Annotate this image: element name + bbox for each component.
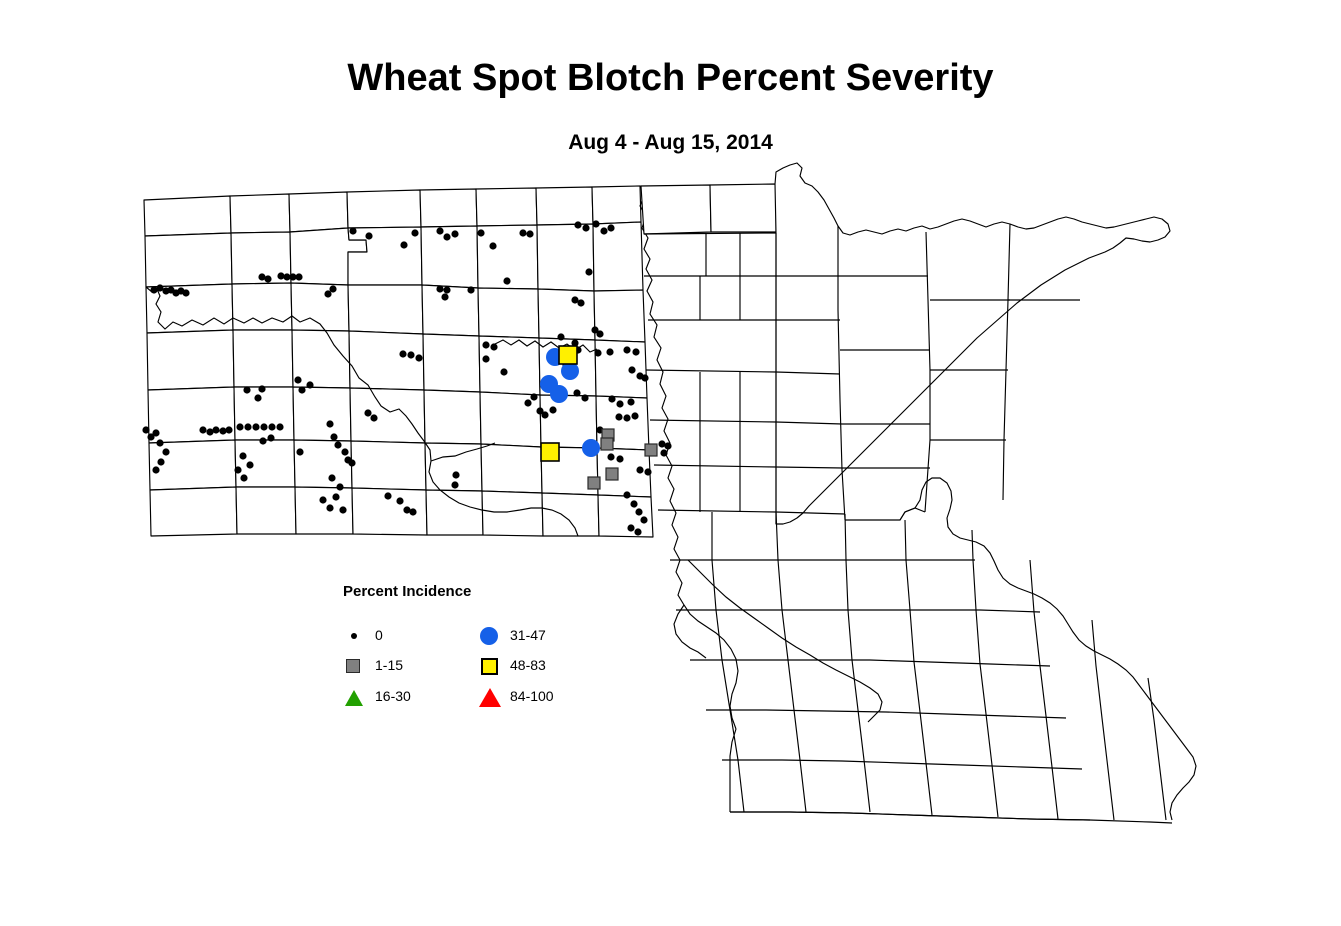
marker-zero: [630, 500, 637, 507]
marker-zero: [452, 471, 459, 478]
marker-zero: [490, 343, 497, 350]
marker-zero: [212, 426, 219, 433]
marker-zero: [574, 221, 581, 228]
marker-zero: [482, 341, 489, 348]
minnesota-counties: [640, 163, 1196, 823]
marker-zero: [330, 433, 337, 440]
legend-key-gray-square: [343, 653, 369, 679]
marker-zero: [294, 376, 301, 383]
marker-zero: [156, 439, 163, 446]
map-canvas: [0, 0, 1341, 926]
marker-zero: [259, 437, 266, 444]
marker-zero: [162, 448, 169, 455]
marker-zero: [142, 426, 149, 433]
legend-label-31-47: 31-47: [510, 627, 546, 643]
marker-zero: [549, 406, 556, 413]
legend-key-yellow-square: [478, 653, 504, 679]
marker-zero: [530, 393, 537, 400]
marker-zero: [319, 496, 326, 503]
marker-zero: [152, 429, 159, 436]
marker-zero: [623, 346, 630, 353]
marker-zero: [443, 233, 450, 240]
marker-zero: [616, 400, 623, 407]
marker-zero: [594, 349, 601, 356]
marker-zero: [407, 351, 414, 358]
marker-zero: [264, 275, 271, 282]
marker-zero: [582, 224, 589, 231]
marker-1-15: [601, 438, 613, 450]
marker-zero: [634, 528, 641, 535]
marker-zero: [592, 220, 599, 227]
marker-zero: [334, 441, 341, 448]
marker-zero: [627, 398, 634, 405]
marker-zero: [607, 224, 614, 231]
marker-zero: [277, 272, 284, 279]
map-figure: Wheat Spot Blotch Percent Severity Aug 4…: [0, 0, 1341, 926]
marker-zero: [409, 508, 416, 515]
marker-zero: [500, 368, 507, 375]
map-svg: [0, 0, 1341, 926]
marker-zero: [152, 466, 159, 473]
marker-zero: [503, 277, 510, 284]
marker-zero: [199, 426, 206, 433]
legend-label-0: 0: [375, 627, 383, 643]
marker-zero: [157, 458, 164, 465]
marker-zero: [635, 508, 642, 515]
marker-zero: [443, 286, 450, 293]
marker-zero: [348, 459, 355, 466]
marker-zero: [606, 348, 613, 355]
legend-key-dot: [343, 623, 369, 649]
marker-zero: [607, 453, 614, 460]
marker-zero: [236, 423, 243, 430]
marker-zero: [524, 399, 531, 406]
marker-zero: [482, 355, 489, 362]
marker-zero: [370, 414, 377, 421]
marker-zero: [349, 227, 356, 234]
marker-zero: [182, 289, 189, 296]
marker-zero: [341, 448, 348, 455]
legend-key-green-triangle: [343, 684, 369, 710]
marker-1-15: [588, 477, 600, 489]
legend-label-48-83: 48-83: [510, 657, 546, 673]
marker-zero: [267, 434, 274, 441]
marker-zero: [276, 423, 283, 430]
marker-zero: [581, 394, 588, 401]
marker-zero: [577, 299, 584, 306]
marker-48-83: [559, 346, 577, 364]
marker-zero: [225, 426, 232, 433]
marker-1-15: [606, 468, 618, 480]
marker-zero: [623, 491, 630, 498]
marker-zero: [365, 232, 372, 239]
marker-zero: [573, 389, 580, 396]
marker-zero: [600, 227, 607, 234]
marker-zero: [332, 493, 339, 500]
marker-zero: [489, 242, 496, 249]
marker-zero: [295, 273, 302, 280]
legend-label-84-100: 84-100: [510, 688, 554, 704]
marker-zero: [623, 414, 630, 421]
marker-zero: [585, 268, 592, 275]
marker-zero: [219, 427, 226, 434]
marker-31-47: [582, 439, 600, 457]
marker-zero: [557, 333, 564, 340]
marker-zero: [306, 381, 313, 388]
marker-48-83: [541, 443, 559, 461]
marker-zero: [640, 516, 647, 523]
marker-zero: [541, 411, 548, 418]
marker-1-15: [645, 444, 657, 456]
legend-key-red-triangle: [478, 684, 504, 710]
marker-zero: [615, 413, 622, 420]
legend-label-16-30: 16-30: [375, 688, 411, 704]
marker-zero: [240, 474, 247, 481]
marker-zero: [641, 374, 648, 381]
marker-zero: [364, 409, 371, 416]
marker-zero: [252, 423, 259, 430]
marker-zero: [244, 423, 251, 430]
marker-zero: [644, 468, 651, 475]
marker-zero: [258, 385, 265, 392]
legend-label-1-15: 1-15: [375, 657, 403, 673]
marker-zero: [326, 420, 333, 427]
marker-zero: [400, 241, 407, 248]
marker-zero: [243, 386, 250, 393]
marker-zero: [411, 229, 418, 236]
marker-zero: [477, 229, 484, 236]
marker-zero: [631, 412, 638, 419]
marker-zero: [519, 229, 526, 236]
legend-key-blue-circle: [478, 623, 504, 649]
marker-zero: [664, 442, 671, 449]
marker-zero: [254, 394, 261, 401]
marker-zero: [627, 524, 634, 531]
marker-zero: [526, 230, 533, 237]
marker-zero: [239, 452, 246, 459]
marker-zero: [415, 354, 422, 361]
marker-zero: [246, 461, 253, 468]
marker-zero: [632, 348, 639, 355]
marker-zero: [399, 350, 406, 357]
marker-zero: [451, 230, 458, 237]
marker-zero: [339, 506, 346, 513]
marker-zero: [268, 423, 275, 430]
marker-zero: [384, 492, 391, 499]
marker-zero: [326, 504, 333, 511]
marker-zero: [298, 386, 305, 393]
marker-zero: [616, 455, 623, 462]
marker-zero: [329, 285, 336, 292]
marker-zero: [636, 466, 643, 473]
marker-zero: [628, 366, 635, 373]
marker-zero: [436, 227, 443, 234]
marker-zero: [234, 466, 241, 473]
marker-zero: [336, 483, 343, 490]
marker-zero: [596, 330, 603, 337]
marker-31-47: [550, 385, 568, 403]
marker-zero: [396, 497, 403, 504]
marker-zero: [436, 285, 443, 292]
marker-zero: [660, 449, 667, 456]
marker-zero: [608, 395, 615, 402]
marker-zero: [441, 293, 448, 300]
legend-title: Percent Incidence: [343, 583, 471, 600]
marker-zero: [296, 448, 303, 455]
marker-zero: [451, 481, 458, 488]
marker-zero: [467, 286, 474, 293]
legend: Percent Incidence 0 1-15 16-30 31-47 48-…: [343, 583, 603, 713]
marker-zero: [260, 423, 267, 430]
marker-zero: [328, 474, 335, 481]
